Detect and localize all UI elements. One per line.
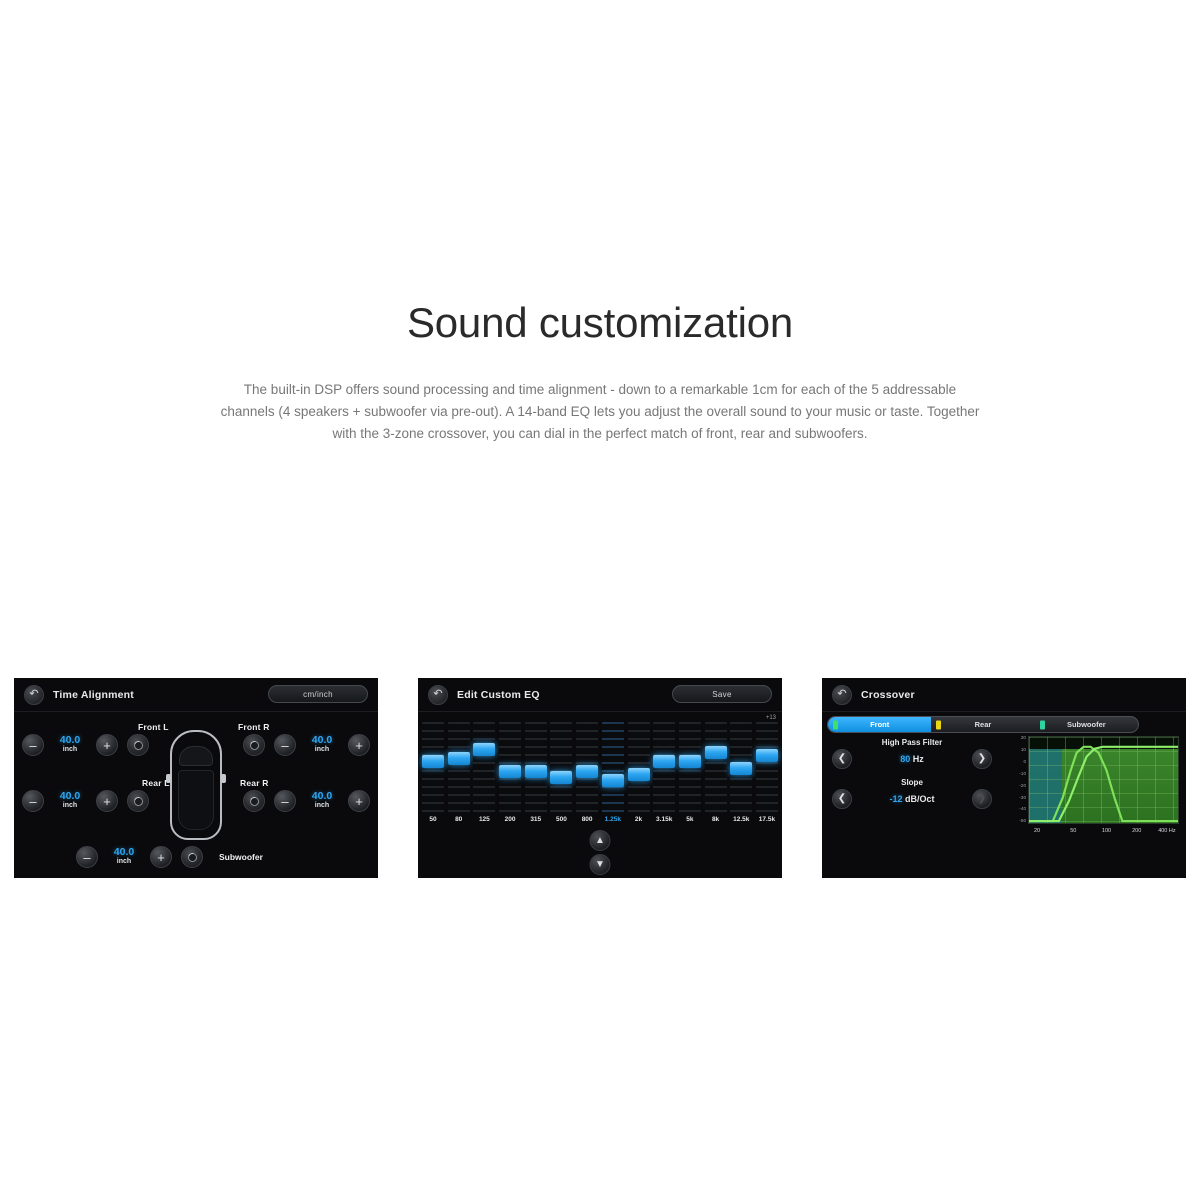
decrement-rear-left-button[interactable]: – [22, 790, 44, 812]
decrement-rear-right-button[interactable]: – [274, 790, 296, 812]
car-mirror-right [221, 774, 226, 783]
graph-x-tick: 200 [1132, 828, 1141, 834]
high-pass-curve [1029, 747, 1178, 821]
slope-row: ❮ -12 dB/Oct ❯ [826, 789, 998, 809]
value-subwoofer: 40.0 inch [107, 847, 141, 866]
eq-band-knob[interactable] [473, 743, 495, 756]
value-subwoofer-number: 40.0 [107, 847, 141, 858]
back-arrow-icon[interactable]: ↶ [428, 685, 448, 705]
value-front-right-number: 40.0 [305, 735, 339, 746]
chevron-right-icon[interactable]: ❯ [972, 749, 992, 769]
graph-x-tick: 400 Hz [1158, 828, 1175, 834]
back-arrow-icon[interactable]: ↶ [24, 685, 44, 705]
time-alignment-body: Front L Front R Rear L Rear R – 40.0 inc… [14, 712, 378, 878]
unit-toggle-button[interactable]: cm/inch [268, 685, 368, 703]
eq-band-slider[interactable] [550, 722, 572, 814]
eq-frequency-label: 12.5k [730, 816, 752, 823]
eq-frequency-label: 80 [448, 816, 470, 823]
eq-band-knob[interactable] [756, 749, 778, 762]
eq-band-knob[interactable] [550, 771, 572, 784]
channel-label-front-left: Front L [138, 722, 169, 732]
value-rear-right-number: 40.0 [305, 791, 339, 802]
eq-frequency-label: 1.25k [602, 816, 624, 823]
chevron-right-icon[interactable]: ❯ [972, 789, 992, 809]
value-rear-left: 40.0 inch [53, 791, 87, 810]
eq-band-knob[interactable] [705, 746, 727, 759]
eq-frequency-label: 5k [679, 816, 701, 823]
crossover-tab-subwoofer[interactable]: Subwoofer [1035, 717, 1138, 732]
eq-band-knob[interactable] [448, 752, 470, 765]
decrement-front-left-button[interactable]: – [22, 734, 44, 756]
value-front-left-number: 40.0 [53, 735, 87, 746]
graph-y-tick: 0 [1023, 760, 1026, 765]
crossover-tab-label: Rear [975, 720, 992, 729]
eq-band-knob[interactable] [730, 762, 752, 775]
eq-band-slider[interactable] [653, 722, 675, 814]
eq-band-slider[interactable] [525, 722, 547, 814]
crossover-tab-rear[interactable]: Rear [931, 717, 1034, 732]
page-description: The built-in DSP offers sound processing… [220, 379, 980, 445]
decrement-front-right-button[interactable]: – [274, 734, 296, 756]
save-button[interactable]: Save [672, 685, 772, 703]
channel-label-subwoofer: Subwoofer [219, 852, 263, 862]
graph-y-tick: -30 [1019, 796, 1026, 801]
eq-frequency-labels: 50801252003155008001.25k2k3.15k5k8k12.5k… [422, 816, 778, 823]
speaker-icon[interactable] [243, 734, 265, 756]
row-rear-left: – 40.0 inch + [22, 790, 149, 812]
eq-frequency-label: 800 [576, 816, 598, 823]
crossover-tab-label: Front [870, 720, 889, 729]
crossover-tab-label: Subwoofer [1067, 720, 1106, 729]
eq-frequency-label: 8k [705, 816, 727, 823]
eq-frequency-label: 315 [525, 816, 547, 823]
panel-crossover: ↶ Crossover FrontRearSubwoofer High Pass… [822, 678, 1186, 878]
zone-color-chip [833, 720, 838, 729]
chevron-down-icon[interactable]: ▼ [590, 854, 611, 875]
chevron-left-icon[interactable]: ❮ [832, 789, 852, 809]
value-subwoofer-unit: inch [107, 858, 141, 866]
eq-band-slider[interactable] [679, 722, 701, 814]
speaker-icon[interactable] [181, 846, 203, 868]
chevron-left-icon[interactable]: ❮ [832, 749, 852, 769]
eq-band-slider[interactable] [448, 722, 470, 814]
value-rear-left-unit: inch [53, 802, 87, 810]
value-rear-left-number: 40.0 [53, 791, 87, 802]
graph-y-tick: -10 [1019, 772, 1026, 777]
eq-frequency-label: 500 [550, 816, 572, 823]
zone-color-chip [1040, 720, 1045, 729]
car-top-view-icon [170, 730, 222, 840]
increment-rear-right-button[interactable]: + [348, 790, 370, 812]
eq-band-slider[interactable] [756, 722, 778, 814]
eq-band-slider[interactable] [628, 722, 650, 814]
channel-label-rear-left: Rear L [142, 778, 170, 788]
high-pass-filter-label: High Pass Filter [826, 738, 998, 747]
eq-band-slider[interactable] [730, 722, 752, 814]
graph-y-tick: -20 [1019, 784, 1026, 789]
eq-scale-top-label: +13 [766, 715, 776, 721]
crossover-body: FrontRearSubwoofer High Pass Filter ❮ 80… [822, 712, 1186, 878]
graph-y-tick: 10 [1021, 748, 1026, 753]
increment-front-right-button[interactable]: + [348, 734, 370, 756]
value-front-right-unit: inch [305, 746, 339, 754]
custom-eq-header: ↶ Edit Custom EQ Save [418, 678, 782, 712]
eq-band-knob[interactable] [679, 755, 701, 768]
slope-value: -12 dB/Oct [889, 794, 934, 804]
graph-plot-area [1028, 736, 1179, 824]
channel-label-rear-right: Rear R [240, 778, 269, 788]
high-pass-filter-row: ❮ 80 Hz ❯ [826, 749, 998, 769]
panel-custom-eq: ↶ Edit Custom EQ Save +13 50801252003155… [418, 678, 782, 878]
high-pass-filter-value: 80 Hz [900, 754, 924, 764]
hero-section: Sound customization The built-in DSP off… [0, 0, 1200, 445]
back-arrow-icon[interactable]: ↶ [832, 685, 852, 705]
eq-band-knob[interactable] [653, 755, 675, 768]
row-front-left: – 40.0 inch + [22, 734, 149, 756]
eq-frequency-label: 3.15k [653, 816, 675, 823]
graph-y-tick: -40 [1019, 807, 1026, 812]
low-pass-curve [1029, 747, 1178, 821]
graph-curves [1029, 737, 1178, 823]
eq-band-knob[interactable] [576, 765, 598, 778]
row-subwoofer: – 40.0 inch + Subwoofer [76, 846, 263, 868]
speaker-icon[interactable] [127, 734, 149, 756]
chevron-up-icon[interactable]: ▲ [590, 830, 611, 851]
speaker-icon[interactable] [127, 790, 149, 812]
graph-x-tick: 100 [1102, 828, 1111, 834]
decrement-subwoofer-button[interactable]: – [76, 846, 98, 868]
panel-time-alignment: ↶ Time Alignment cm/inch Front L Front R… [14, 678, 378, 878]
crossover-zone-tabs[interactable]: FrontRearSubwoofer [827, 716, 1139, 733]
eq-band-slider[interactable] [422, 722, 444, 814]
eq-band-sliders[interactable] [422, 722, 778, 814]
crossover-tab-front[interactable]: Front [828, 717, 931, 732]
eq-band-slider[interactable] [499, 722, 521, 814]
high-pass-filter-number: 80 [900, 754, 910, 764]
eq-band-slider[interactable] [576, 722, 598, 814]
graph-x-axis: 2050100200400 Hz [1028, 826, 1179, 840]
time-alignment-header: ↶ Time Alignment cm/inch [14, 678, 378, 712]
graph-y-tick: 20 [1021, 736, 1026, 741]
eq-frequency-label: 17.5k [756, 816, 778, 823]
eq-frequency-label: 125 [473, 816, 495, 823]
eq-frequency-label: 50 [422, 816, 444, 823]
eq-band-knob[interactable] [525, 765, 547, 778]
graph-x-tick: 50 [1070, 828, 1076, 834]
row-front-right: – 40.0 inch + [243, 734, 370, 756]
eq-frequency-label: 200 [499, 816, 521, 823]
crossover-header: ↶ Crossover [822, 678, 1186, 712]
value-front-left-unit: inch [53, 746, 87, 754]
eq-scroll-controls: ▲ ▼ [590, 830, 611, 875]
graph-x-tick: 20 [1034, 828, 1040, 834]
value-front-left: 40.0 inch [53, 735, 87, 754]
row-rear-right: – 40.0 inch + [243, 790, 370, 812]
page-title: Sound customization [0, 300, 1200, 346]
slope-label: Slope [826, 778, 998, 787]
crossover-response-graph: 20100-10-20-30-40-50 2050100200400 Hz [1014, 736, 1179, 840]
graph-y-axis: 20100-10-20-30-40-50 [1014, 736, 1028, 824]
eq-band-knob[interactable] [602, 774, 624, 787]
eq-band-slider[interactable] [705, 722, 727, 814]
value-rear-right-unit: inch [305, 802, 339, 810]
crossover-controls: High Pass Filter ❮ 80 Hz ❯ Slope ❮ -12 d… [826, 738, 998, 809]
high-pass-filter-unit: Hz [913, 754, 924, 764]
value-front-right: 40.0 inch [305, 735, 339, 754]
graph-y-tick: -50 [1019, 819, 1026, 824]
slope-number: -12 [889, 794, 902, 804]
increment-front-left-button[interactable]: + [96, 734, 118, 756]
channel-label-front-right: Front R [238, 722, 270, 732]
eq-band-knob[interactable] [499, 765, 521, 778]
eq-band-knob[interactable] [628, 768, 650, 781]
slope-unit: dB/Oct [905, 794, 935, 804]
eq-band-slider[interactable] [602, 722, 624, 814]
speaker-icon[interactable] [243, 790, 265, 812]
eq-band-slider[interactable] [473, 722, 495, 814]
zone-color-chip [936, 720, 941, 729]
eq-frequency-label: 2k [628, 816, 650, 823]
increment-subwoofer-button[interactable]: + [150, 846, 172, 868]
custom-eq-title: Edit Custom EQ [457, 689, 540, 701]
increment-rear-left-button[interactable]: + [96, 790, 118, 812]
custom-eq-body: +13 50801252003155008001.25k2k3.15k5k8k1… [418, 712, 782, 878]
screenshot-row: ↶ Time Alignment cm/inch Front L Front R… [0, 678, 1200, 878]
value-rear-right: 40.0 inch [305, 791, 339, 810]
time-alignment-title: Time Alignment [53, 689, 134, 701]
crossover-title: Crossover [861, 689, 915, 701]
eq-band-knob[interactable] [422, 755, 444, 768]
